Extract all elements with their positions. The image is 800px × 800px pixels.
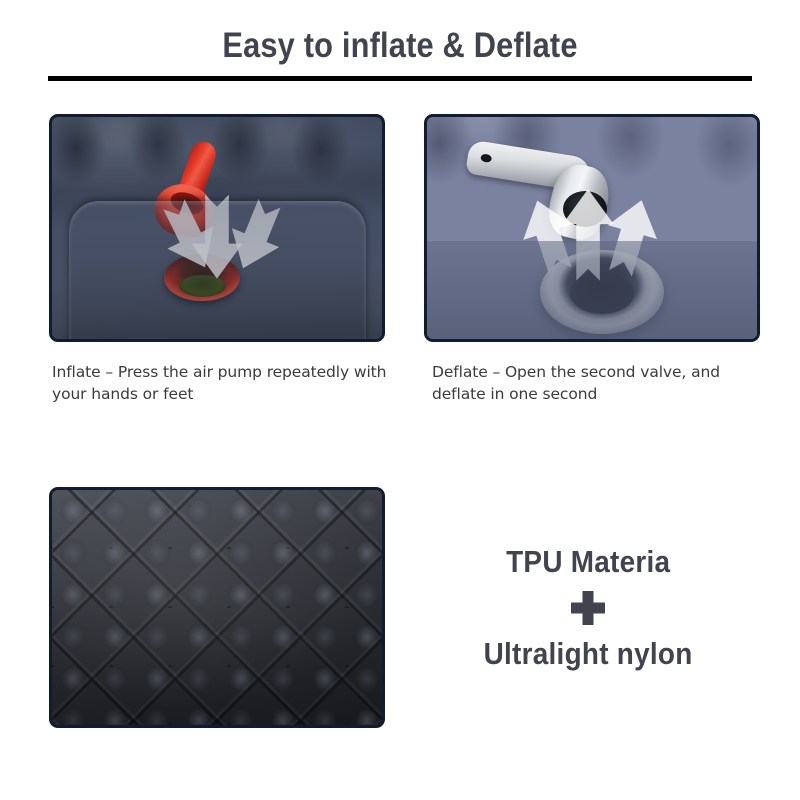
airflow-down-arrows-icon (52, 117, 382, 339)
airflow-up-arrows-icon (427, 117, 757, 339)
diamond-quilted-surface (52, 490, 382, 725)
inflate-caption: Inflate – Press the air pump repeatedly … (52, 361, 392, 405)
red-valve-socket-icon (164, 254, 240, 301)
grey-valve-port-icon (540, 250, 664, 334)
deflate-photo (424, 114, 760, 342)
plus-icon (568, 588, 608, 628)
inflate-photo (49, 114, 385, 342)
page-title: Easy to inflate & Deflate (48, 26, 752, 66)
greyblue-pad-surface (427, 117, 757, 339)
deflate-caption: Deflate – Open the second valve, and def… (432, 361, 762, 405)
material-bottom-label: Ultralight nylon (484, 636, 693, 672)
title-divider-rule (48, 76, 752, 81)
material-callout: TPU Materia Ultralight nylon (404, 487, 772, 728)
texture-photo (49, 487, 385, 728)
navy-quilted-pad-surface (52, 117, 382, 339)
material-top-label: TPU Materia (506, 544, 670, 580)
